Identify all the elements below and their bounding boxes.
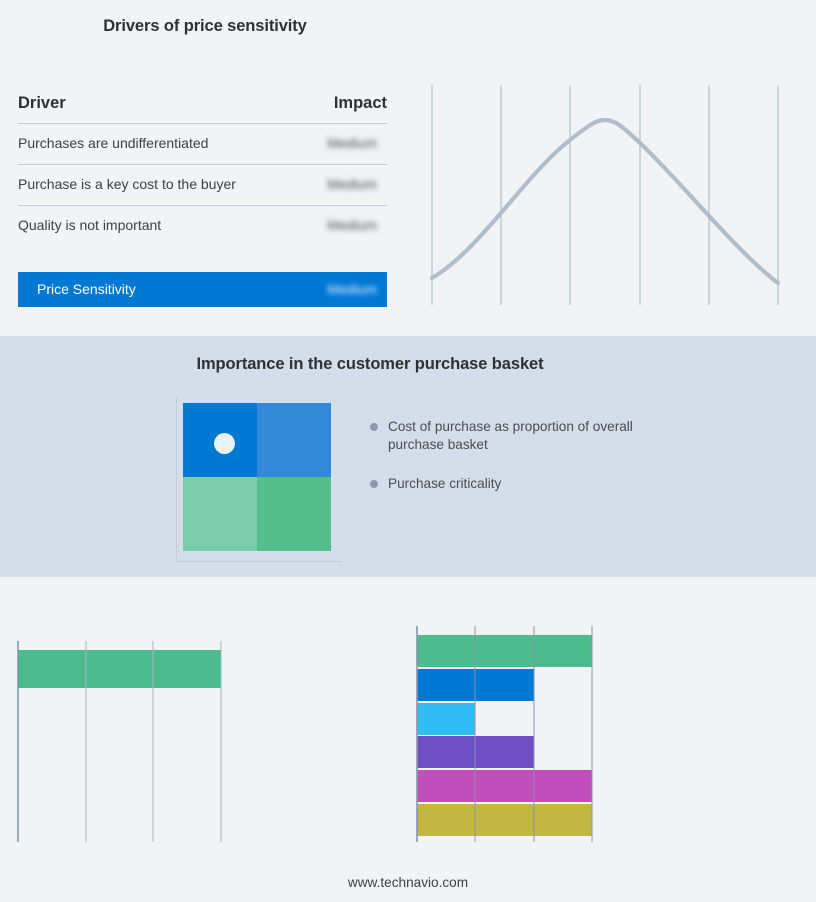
drivers-title: Drivers of price sensitivity bbox=[0, 17, 410, 36]
driver-label: Purchase is a key cost to the buyer bbox=[18, 176, 236, 192]
drivers-table: Driver Impact Purchases are undifferenti… bbox=[18, 94, 387, 247]
impact-value-redacted: Medium bbox=[327, 135, 377, 151]
summary-impact-redacted: Medium bbox=[327, 281, 377, 297]
key-purchase-criteria-panel: Key purchase criteria Innovation Pri bbox=[406, 577, 816, 867]
bar-innovation bbox=[417, 635, 592, 667]
adoption-lifecycle-panel: Adoption lifecycle Innovators Early Adop… bbox=[410, 0, 816, 336]
bullet-icon bbox=[370, 480, 378, 488]
legend-label: Cost of purchase as proportion of overal… bbox=[388, 419, 633, 452]
quadrant-y-axis bbox=[176, 397, 177, 559]
price-sensitivity-summary-row: Price Sensitivity Medium bbox=[18, 272, 387, 307]
bar-regulatory-compliance bbox=[417, 770, 592, 802]
quadrant-grid bbox=[183, 403, 331, 551]
footer-url: www.technavio.com bbox=[0, 875, 816, 890]
column-header-impact: Impact bbox=[334, 94, 387, 113]
bar-quality bbox=[417, 703, 475, 735]
legend-item-cost-of-purchase: Cost of purchase as proportion of overal… bbox=[370, 418, 670, 454]
impact-value-redacted: Medium bbox=[327, 217, 377, 233]
adoption-rates-chart bbox=[0, 577, 410, 867]
adoption-rates-panel: Adoption rates UK bbox=[0, 577, 410, 867]
infographic-page: Drivers of price sensitivity Driver Impa… bbox=[0, 0, 816, 902]
lifecycle-bell-curve bbox=[432, 120, 778, 283]
quadrant-cell-bottom-left bbox=[183, 477, 257, 551]
bar-service bbox=[417, 804, 592, 836]
importance-title: Importance in the customer purchase bask… bbox=[0, 355, 740, 374]
bullet-icon bbox=[370, 423, 378, 431]
quadrant-cell-bottom-right bbox=[257, 477, 331, 551]
quadrant-cell-top-right bbox=[257, 403, 331, 477]
impact-value-redacted: Medium bbox=[327, 176, 377, 192]
key-purchase-criteria-chart bbox=[406, 577, 816, 867]
importance-legend: Cost of purchase as proportion of overal… bbox=[370, 418, 670, 514]
table-header-row: Driver Impact bbox=[18, 94, 387, 124]
summary-label: Price Sensitivity bbox=[37, 281, 136, 297]
table-row: Purchases are undifferentiated Medium bbox=[18, 124, 387, 165]
quadrant-x-axis bbox=[176, 561, 342, 562]
column-header-driver: Driver bbox=[18, 94, 66, 113]
driver-label: Purchases are undifferentiated bbox=[18, 135, 208, 151]
driver-label: Quality is not important bbox=[18, 217, 161, 233]
adoption-lifecycle-chart bbox=[410, 0, 816, 336]
importance-quadrant-chart bbox=[176, 397, 344, 562]
bar-uk bbox=[18, 650, 221, 688]
legend-label: Purchase criticality bbox=[388, 476, 501, 491]
legend-item-purchase-criticality: Purchase criticality bbox=[370, 475, 670, 493]
table-row: Purchase is a key cost to the buyer Medi… bbox=[18, 165, 387, 206]
table-row: Quality is not important Medium bbox=[18, 206, 387, 247]
drivers-panel: Drivers of price sensitivity Driver Impa… bbox=[0, 0, 410, 336]
quadrant-position-marker bbox=[214, 433, 235, 454]
